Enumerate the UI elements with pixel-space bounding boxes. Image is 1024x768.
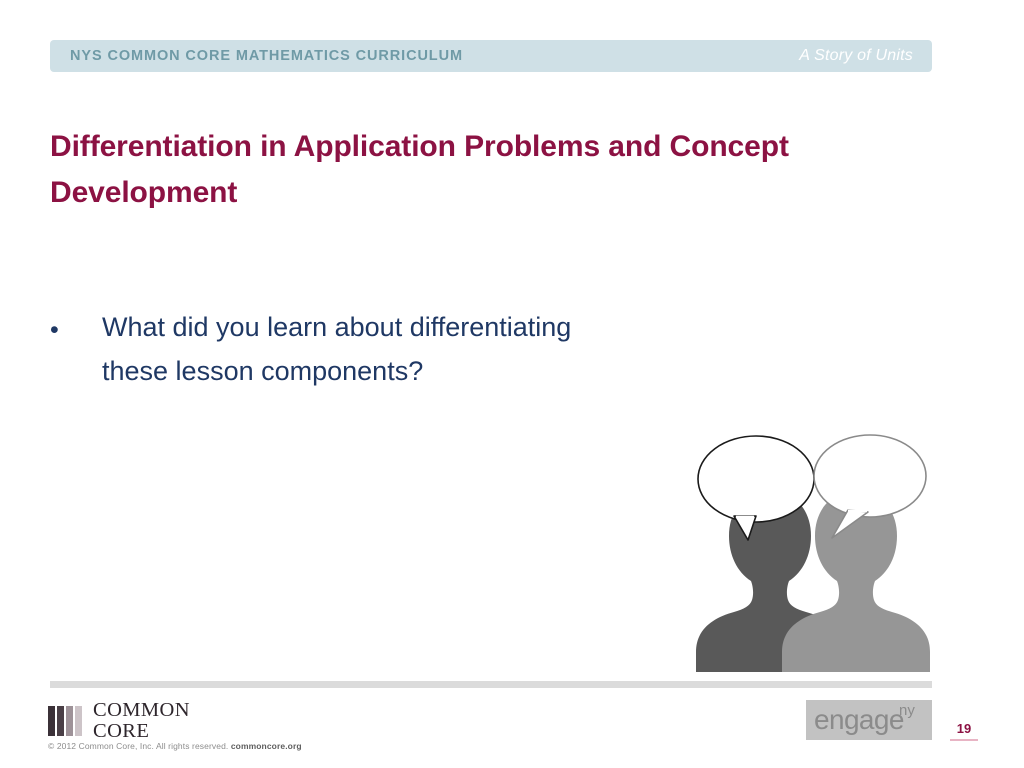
copyright-notice: © 2012 Common Core, Inc. All rights rese… (48, 741, 302, 751)
common-core-wordmark: COMMON CORE (93, 700, 190, 742)
logo-line-2: CORE (93, 721, 190, 742)
logo-bar-4 (75, 706, 82, 736)
common-core-bars-icon (48, 706, 84, 736)
two-people-talking-illustration (672, 424, 934, 672)
bullet-item-text: What did you learn about differentiating… (102, 306, 610, 393)
bullet-marker-icon: • (50, 306, 102, 343)
page-number-rule (950, 739, 978, 741)
logo-bar-3 (66, 706, 73, 736)
bullet-list-item: • What did you learn about differentiati… (50, 306, 610, 393)
copyright-text: © 2012 Common Core, Inc. All rights rese… (48, 741, 231, 751)
logo-line-1: COMMON (93, 700, 190, 721)
common-core-logo: COMMON CORE (48, 700, 190, 742)
engageny-word: engage (814, 704, 904, 736)
footer-divider (50, 681, 932, 688)
curriculum-header-title: NYS COMMON CORE MATHEMATICS CURRICULUM (70, 48, 463, 64)
engageny-logo: engage ny (806, 700, 932, 740)
slide-canvas: NYS COMMON CORE MATHEMATICS CURRICULUM A… (0, 0, 1024, 768)
engageny-superscript: ny (899, 702, 915, 719)
curriculum-header-subtitle: A Story of Units (799, 47, 913, 65)
page-number: 19 (952, 721, 976, 736)
logo-bar-2 (57, 706, 64, 736)
logo-bar-1 (48, 706, 55, 736)
slide-title: Differentiation in Application Problems … (50, 124, 840, 215)
commoncore-site-link[interactable]: commoncore.org (231, 741, 302, 751)
curriculum-header-banner: NYS COMMON CORE MATHEMATICS CURRICULUM A… (50, 40, 932, 72)
